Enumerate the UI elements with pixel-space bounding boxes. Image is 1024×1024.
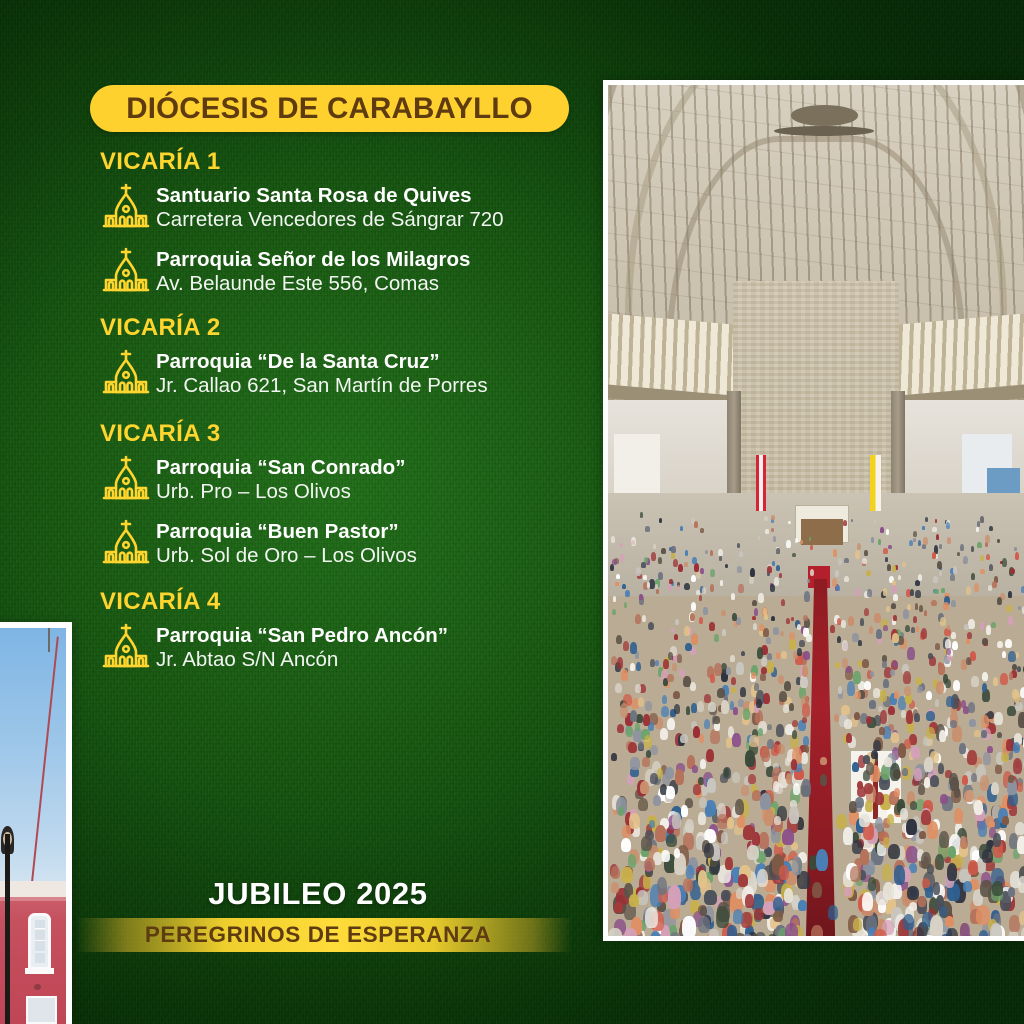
footer-subtitle: PEREGRINOS DE ESPERANZA (145, 922, 491, 948)
parish-item: Parroquia Señor de los Milagros Av. Bela… (100, 246, 600, 298)
colonial-building-image (0, 628, 66, 1024)
church-icon (100, 246, 152, 298)
parish-address: Jr. Abtao S/N Ancón (156, 648, 448, 672)
church-interior-mass-photo (603, 80, 1024, 941)
vatican-flag (870, 455, 881, 511)
parish-item: Santuario Santa Rosa de Quives Carretera… (100, 182, 600, 234)
footer: JUBILEO 2025 PEREGRINOS DE ESPERANZA (0, 876, 600, 952)
vicaria-heading-2: VICARÍA 2 (100, 314, 600, 342)
vicaria-heading-1: VICARÍA 1 (100, 148, 600, 176)
ceiling-fan-blade (774, 126, 874, 136)
parish-item: Parroquia “De la Santa Cruz” Jr. Callao … (100, 348, 600, 400)
parish-item: Parroquia “San Pedro Ancón” Jr. Abtao S/… (100, 622, 600, 674)
church-icon (100, 518, 152, 570)
footer-title: JUBILEO 2025 (36, 876, 600, 912)
wall-emblem (34, 984, 41, 990)
parish-item: Parroquia “San Conrado” Urb. Pro – Los O… (100, 454, 600, 506)
parish-name: Santuario Santa Rosa de Quives (156, 184, 504, 208)
congregation-crowd (608, 511, 1024, 937)
street-lamp-post (5, 834, 10, 1024)
church-interior-image (608, 85, 1024, 936)
parish-address: Jr. Callao 621, San Martín de Porres (156, 374, 488, 398)
doorway (26, 996, 56, 1024)
vicaria-group-3: VICARÍA 3 (0, 420, 600, 570)
parish-address: Carretera Vencedores de Sángrar 720 (156, 208, 504, 232)
vicaria-group-4: VICARÍA 4 (0, 588, 600, 674)
parish-text: Santuario Santa Rosa de Quives Carretera… (156, 184, 504, 232)
pink-colonial-building-photo (0, 622, 72, 1024)
parish-text: Parroquia “Buen Pastor” Urb. Sol de Oro … (156, 520, 417, 568)
antenna (48, 628, 50, 652)
building-facade (0, 881, 66, 1024)
parish-name: Parroquia “San Pedro Ancón” (156, 624, 448, 648)
church-icon (100, 454, 152, 506)
vicaria-list: VICARÍA 1 (0, 148, 600, 686)
parish-name: Parroquia “De la Santa Cruz” (156, 350, 488, 374)
page-title: DIÓCESIS DE CARABAYLLO (126, 92, 533, 126)
vicaria-heading-3: VICARÍA 3 (100, 420, 600, 448)
church-icon (100, 348, 152, 400)
footer-subtitle-banner: PEREGRINOS DE ESPERANZA (36, 918, 600, 952)
parish-item: Parroquia “Buen Pastor” Urb. Sol de Oro … (100, 518, 600, 570)
church-icon (100, 622, 152, 674)
vicaria-group-1: VICARÍA 1 (0, 148, 600, 298)
parish-address: Urb. Pro – Los Olivos (156, 480, 405, 504)
church-icon (100, 182, 152, 234)
balcony-right (899, 314, 1024, 410)
parish-text: Parroquia “San Conrado” Urb. Pro – Los O… (156, 456, 405, 504)
cornice (0, 881, 66, 897)
vicaria-group-2: VICARÍA 2 (0, 314, 600, 400)
page-title-pill: DIÓCESIS DE CARABAYLLO (90, 85, 569, 132)
content-column: DIÓCESIS DE CARABAYLLO VICARÍA 1 (0, 0, 600, 1024)
peru-flag (756, 455, 767, 511)
parish-name: Parroquia Señor de los Milagros (156, 248, 470, 272)
cornice-trim (0, 897, 66, 901)
parish-name: Parroquia “San Conrado” (156, 456, 405, 480)
arched-window (28, 913, 52, 970)
parish-address: Av. Belaunde Este 556, Comas (156, 272, 470, 296)
parish-text: Parroquia “San Pedro Ancón” Jr. Abtao S/… (156, 624, 448, 672)
balcony-left (608, 314, 733, 410)
parish-text: Parroquia “De la Santa Cruz” Jr. Callao … (156, 350, 488, 398)
vicaria-heading-4: VICARÍA 4 (100, 588, 600, 616)
parish-address: Urb. Sol de Oro – Los Olivos (156, 544, 417, 568)
ceiling-fan (791, 105, 858, 125)
parish-name: Parroquia “Buen Pastor” (156, 520, 417, 544)
window-sill (25, 968, 54, 974)
window-left (614, 434, 660, 494)
parish-text: Parroquia Señor de los Milagros Av. Bela… (156, 248, 470, 296)
